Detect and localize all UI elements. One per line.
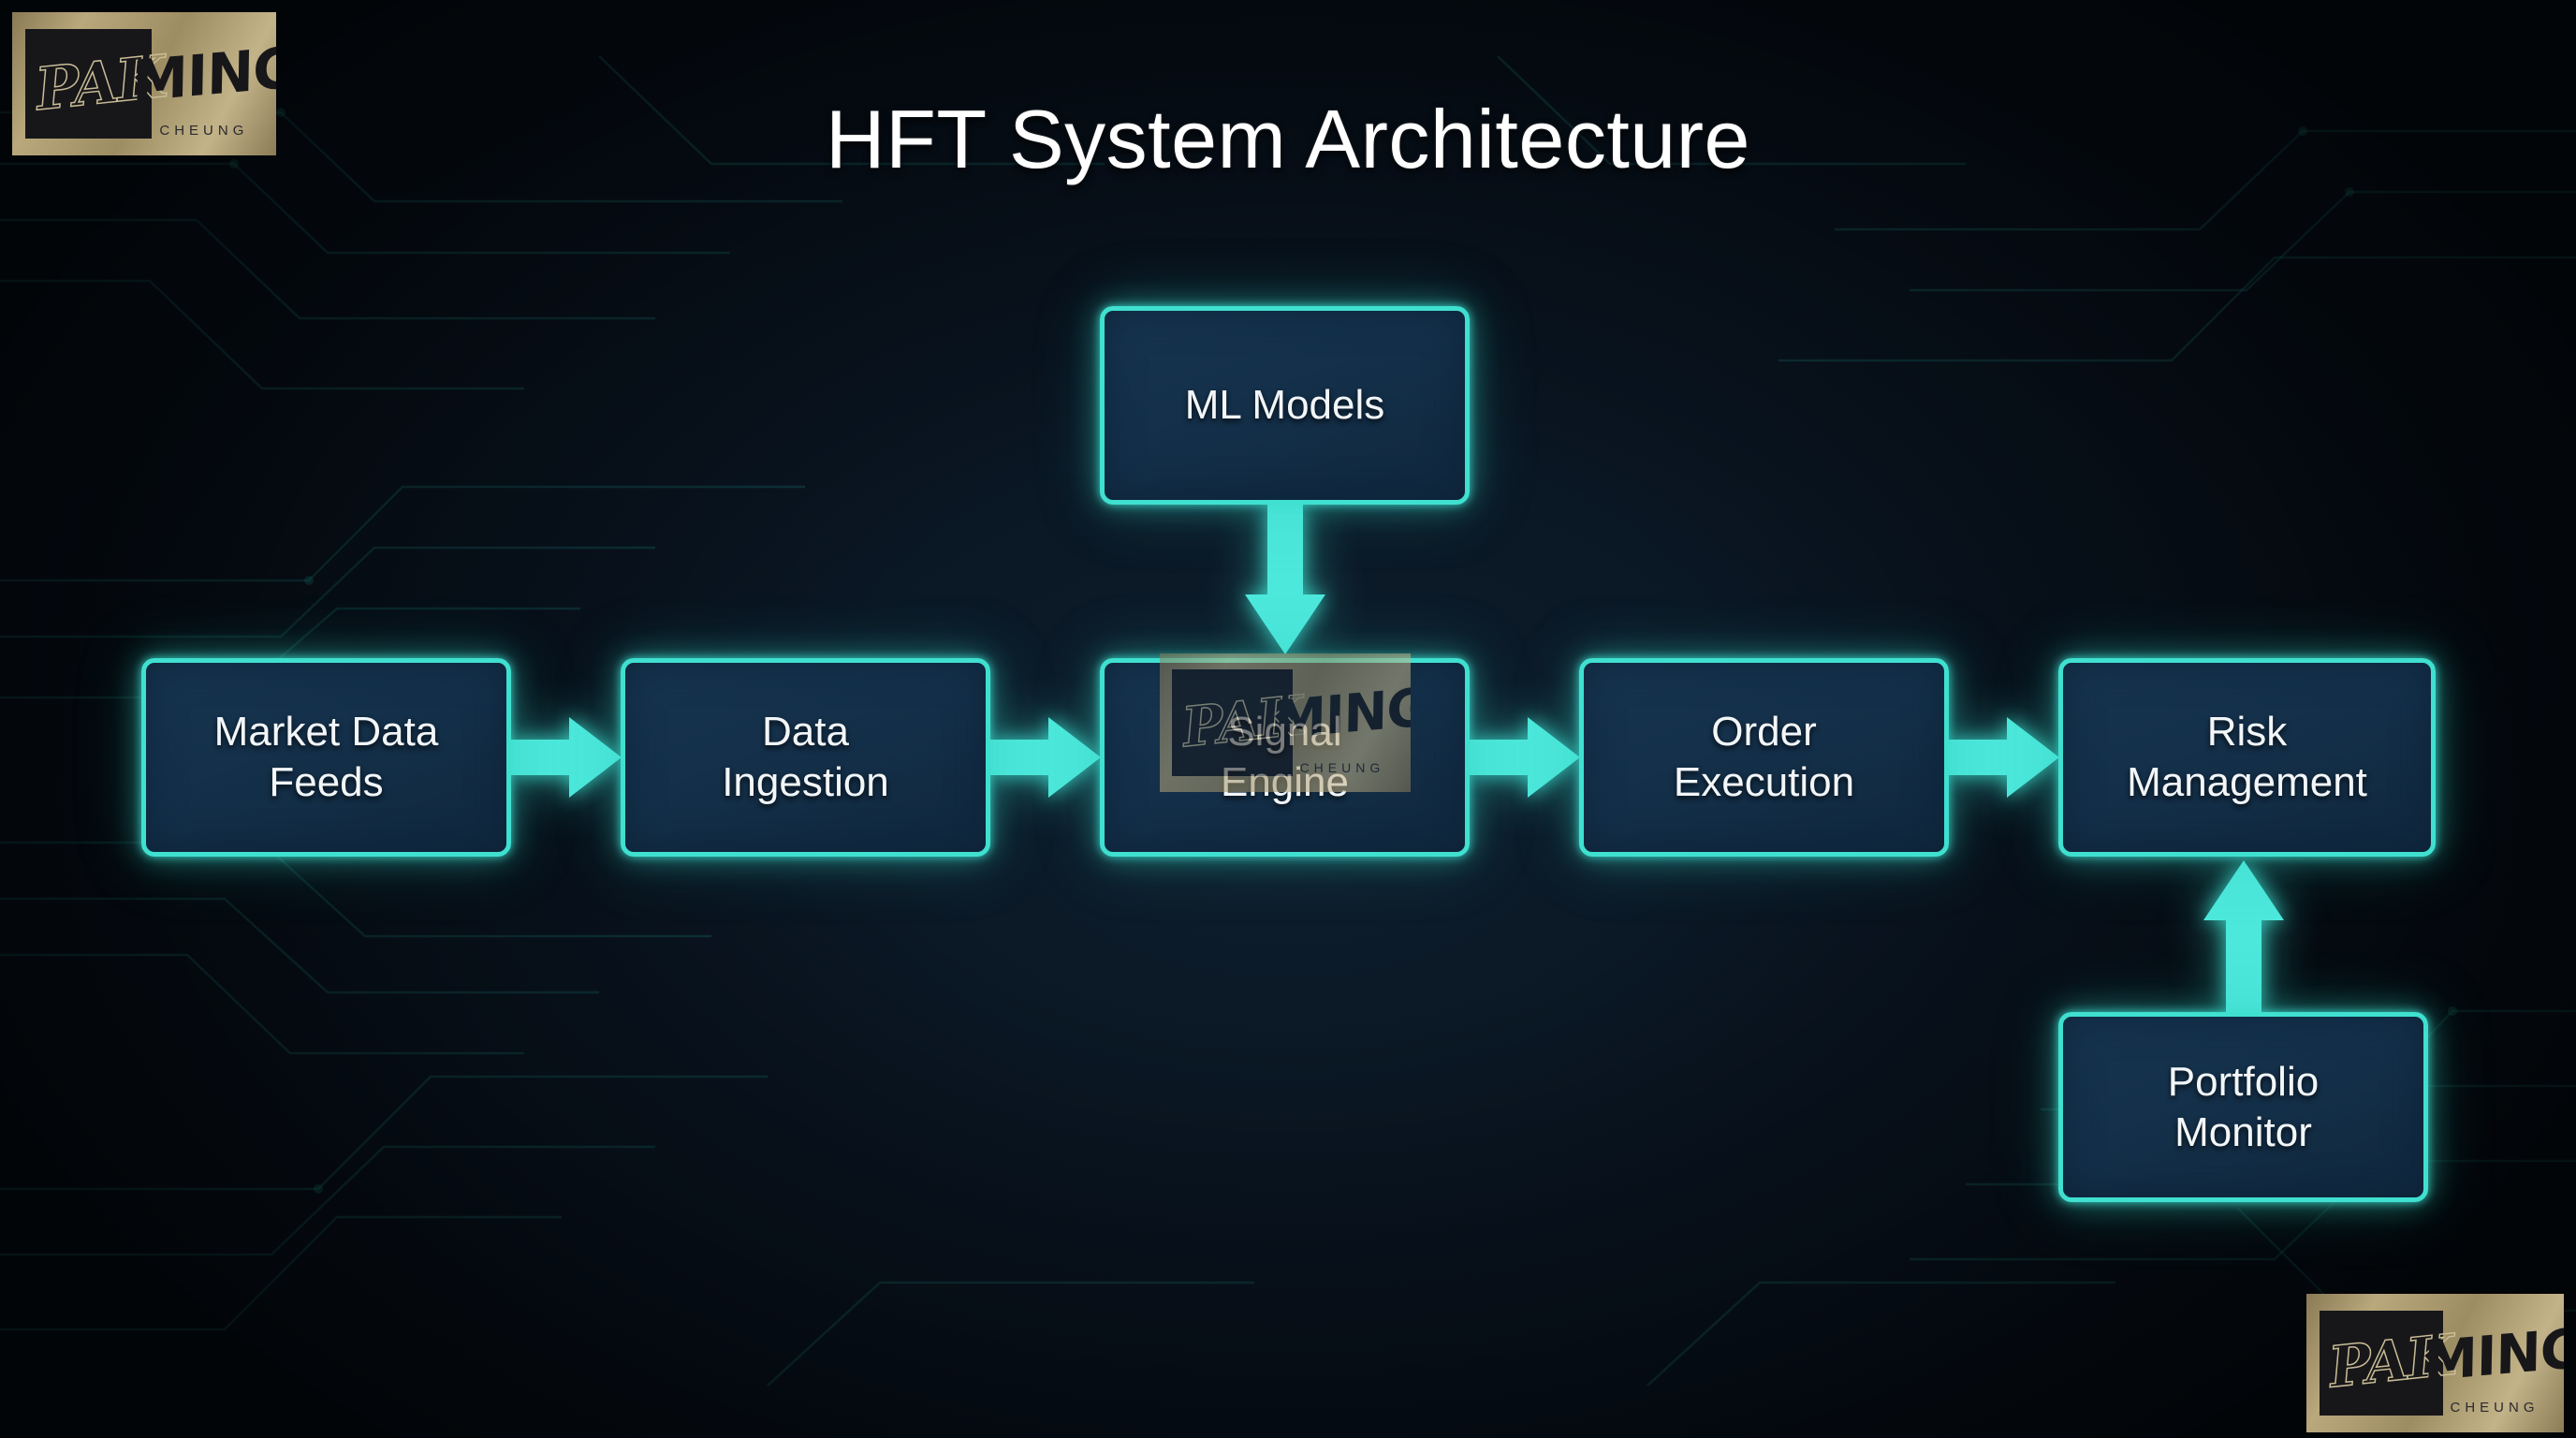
arrow-market-data-feeds-to-data-ingestion [511, 713, 622, 801]
watermark-logo-top-left: PAK MING CHEUNG [12, 12, 276, 155]
watermark-cheung-text: CHEUNG [2451, 1400, 2539, 1416]
node-market-data-feeds-label: Market Data Feeds [214, 707, 439, 807]
node-data-ingestion[interactable]: Data Ingestion [621, 658, 990, 857]
node-ml-models-label: ML Models [1185, 380, 1385, 431]
watermark-cheung-text: CHEUNG [1300, 760, 1385, 775]
arrow-portfolio-monitor-to-risk-management [2200, 857, 2288, 1012]
node-risk-management-label: Risk Management [2127, 707, 2367, 807]
node-market-data-feeds[interactable]: Market Data Feeds [141, 658, 511, 857]
watermark-right-panel: MING CHEUNG [1293, 653, 1411, 792]
node-ml-models[interactable]: ML Models [1100, 306, 1470, 505]
page-title: HFT System Architecture [0, 92, 2576, 187]
watermark-ming-text: MING [1274, 677, 1411, 752]
node-data-ingestion-label: Data Ingestion [722, 707, 889, 807]
watermark-logo-center-overlay: PAK MING CHEUNG [1160, 653, 1411, 792]
node-order-execution-label: Order Execution [1674, 707, 1854, 807]
slide-canvas: HFT System Architecture ML Models [0, 0, 2576, 1438]
watermark-logo-bottom-right: PAK MING CHEUNG [2306, 1294, 2564, 1432]
node-portfolio-monitor-label: Portfolio Monitor [2168, 1057, 2319, 1157]
watermark-right-panel: MING CHEUNG [152, 12, 276, 155]
watermark-ming-text: MING [2423, 1315, 2564, 1393]
arrow-order-execution-to-risk-management [1949, 713, 2059, 801]
arrow-data-ingestion-to-signal-engine [990, 713, 1101, 801]
node-order-execution[interactable]: Order Execution [1579, 658, 1949, 857]
arrow-signal-engine-to-order-execution [1470, 713, 1580, 801]
watermark-cheung-text: CHEUNG [159, 123, 248, 139]
node-risk-management[interactable]: Risk Management [2058, 658, 2436, 857]
node-portfolio-monitor[interactable]: Portfolio Monitor [2058, 1012, 2428, 1202]
watermark-right-panel: MING CHEUNG [2443, 1294, 2564, 1432]
watermark-ming-text: MING [132, 35, 276, 115]
arrow-ml-models-to-signal-engine [1241, 505, 1329, 658]
